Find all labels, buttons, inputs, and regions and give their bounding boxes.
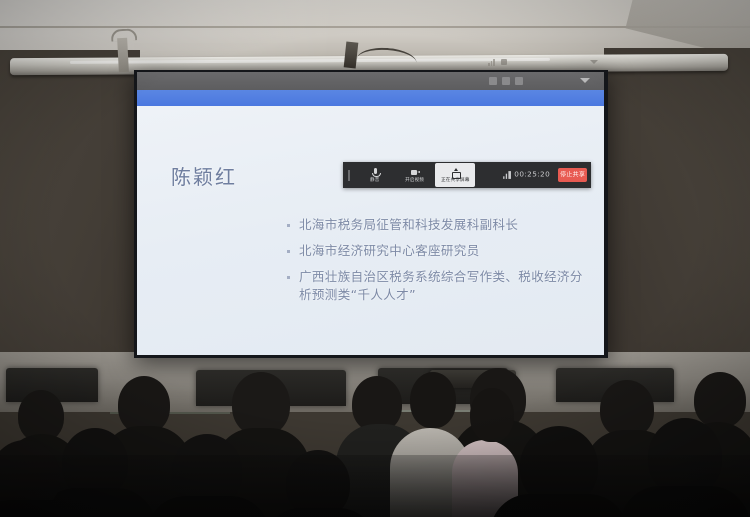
stop-share-button-label: 停止共享 <box>560 171 585 179</box>
audience-head <box>470 388 514 442</box>
signal-bars-icon <box>488 59 495 66</box>
wall-right-panel <box>604 48 750 393</box>
list-item: 北海市经济研究中心客座研究员 <box>287 242 587 260</box>
signal-bars-icon <box>503 171 510 179</box>
start-video-button[interactable]: 开启视频 <box>395 163 435 187</box>
meeting-timer-label: 00:25:20 <box>514 171 550 179</box>
list-item-label: 北海市经济研究中心客座研究员 <box>299 242 587 260</box>
page-title: 陈颖红 <box>171 161 237 190</box>
chevron-down-icon[interactable] <box>590 60 598 64</box>
meeting-toolbar[interactable]: 静音 开启视频 正在共享屏幕 00:25:20 <box>343 162 591 188</box>
list-item-label: 广西壮族自治区税务系统综合写作类、税收经济分析预测类“千人人才” <box>299 268 587 304</box>
slide-body: 陈颖红 北海市税务局征管和科技发展科副科长 北海市经济研究中心客座研究员 广西壮… <box>137 106 604 355</box>
source-square-icon <box>501 59 507 65</box>
share-screen-icon <box>450 168 460 178</box>
wall-left-panel <box>0 50 140 395</box>
meeting-timer: 00:25:20 <box>503 171 550 179</box>
stop-share-button[interactable]: 停止共享 <box>558 168 587 182</box>
list-item: 北海市税务局征管和科技发展科副科长 <box>287 216 587 234</box>
chrome-icons <box>489 77 523 85</box>
lecture-hall-photo: 陈颖红 北海市税务局征管和科技发展科副科长 北海市经济研究中心客座研究员 广西壮… <box>0 0 750 517</box>
camera-icon <box>410 168 420 178</box>
mute-button[interactable]: 静音 <box>355 163 395 187</box>
square-bullet-icon <box>287 224 290 227</box>
roller-bracket-left <box>117 38 129 72</box>
square-bullet-icon <box>287 276 290 279</box>
projection-screen: 陈颖红 北海市税务局征管和科技发展科副科长 北海市经济研究中心客座研究员 广西壮… <box>137 72 604 355</box>
foreground-shadow <box>0 455 750 517</box>
share-screen-button-label: 正在共享屏幕 <box>441 178 469 182</box>
meeting-window-chrome <box>137 72 604 90</box>
start-video-button-label: 开启视频 <box>406 178 425 182</box>
bullet-list: 北海市税务局征管和科技发展科副科长 北海市经济研究中心客座研究员 广西壮族自治区… <box>287 216 587 313</box>
microphone-icon <box>370 168 380 178</box>
projector-osd <box>488 54 598 70</box>
square-bullet-icon <box>287 250 290 253</box>
roller-highlight <box>70 58 550 64</box>
share-screen-button[interactable]: 正在共享屏幕 <box>435 163 475 187</box>
drag-grip-icon[interactable] <box>343 170 355 181</box>
list-item: 广西壮族自治区税务系统综合写作类、税收经济分析预测类“千人人才” <box>287 268 587 304</box>
mute-button-label: 静音 <box>370 178 379 182</box>
list-item-label: 北海市税务局征管和科技发展科副科长 <box>299 216 587 234</box>
audience-head <box>410 372 456 428</box>
chevron-down-icon[interactable] <box>580 78 590 83</box>
slide-accent-bar <box>137 90 604 106</box>
projection-screen-frame: 陈颖红 北海市税务局征管和科技发展科副科长 北海市经济研究中心客座研究员 广西壮… <box>134 70 608 358</box>
